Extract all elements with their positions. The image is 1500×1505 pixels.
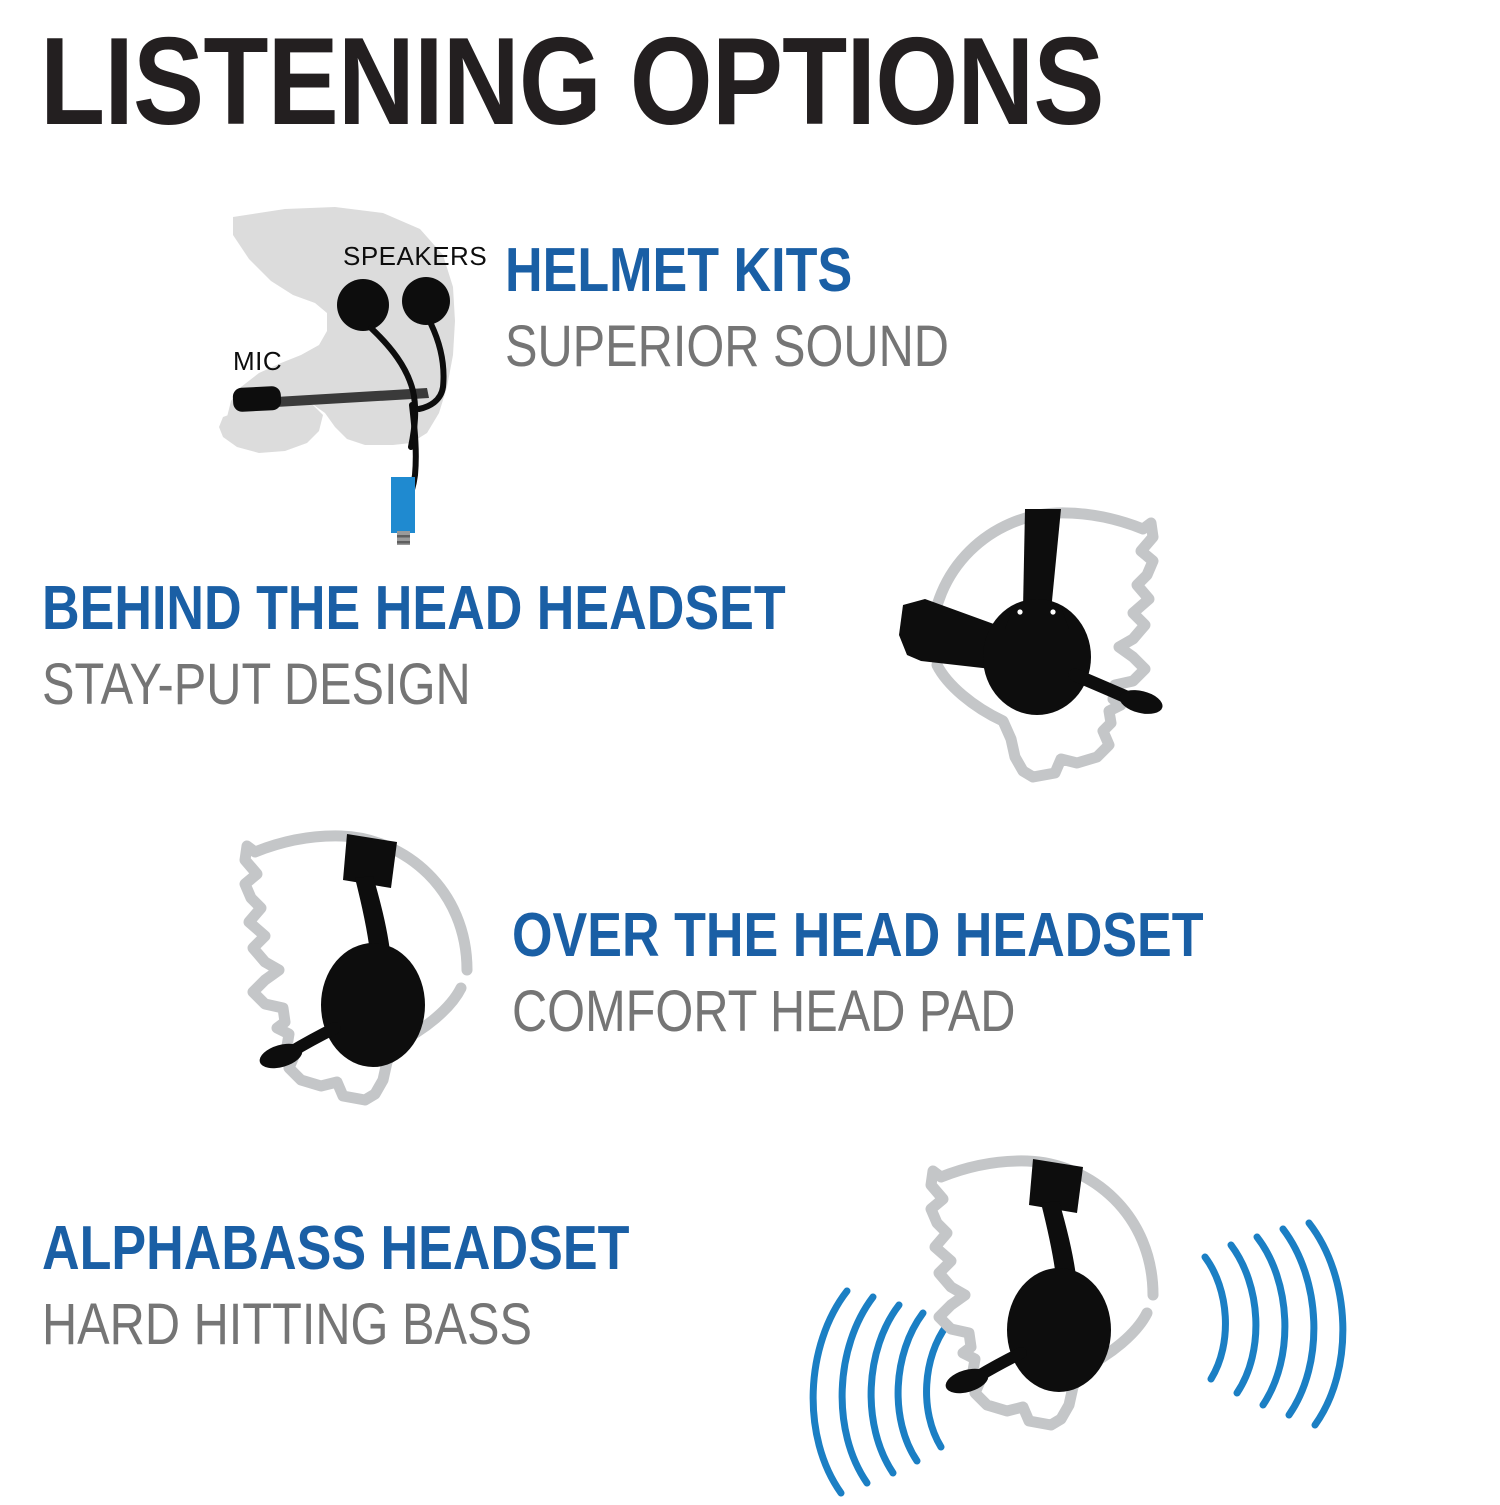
helmet-mic-label: MIC	[233, 346, 282, 376]
soundwave-left-group	[813, 1291, 947, 1493]
helmet-kits-text-block: HELMET KITS SUPERIOR SOUND	[505, 240, 1034, 376]
helmet-plug-ring-1	[397, 535, 410, 538]
over-the-head-title: OVER THE HEAD HEADSET	[512, 905, 1204, 967]
headset-ear-cup	[1007, 1268, 1111, 1392]
soundwave-left-1	[927, 1325, 947, 1447]
alphabass-title: ALPHABASS HEADSET	[42, 1218, 629, 1280]
helmet-plug-ring-2	[397, 541, 410, 544]
page-title: LISTENING OPTIONS	[40, 20, 1104, 144]
headset-ear-cup	[321, 943, 425, 1067]
headset-top-strap	[1023, 509, 1061, 611]
helmet-kit-icon: SPEAKERS MIC	[215, 195, 515, 545]
behind-the-head-headset-icon	[865, 495, 1195, 815]
helmet-speaker-right	[402, 277, 450, 325]
over-the-head-text-block: OVER THE HEAD HEADSET COMFORT HEAD PAD	[512, 905, 1335, 1041]
soundwave-right-2	[1231, 1245, 1256, 1393]
headset-cup-notch-left	[1017, 609, 1022, 614]
soundwave-right-group	[1205, 1223, 1343, 1425]
alphabass-text-block: ALPHABASS HEADSET HARD HITTING BASS	[42, 1218, 741, 1354]
helmet-kits-subtitle: SUPERIOR SOUND	[505, 318, 949, 376]
headset-ear-cup-top	[1005, 607, 1069, 629]
helmet-speakers-label: SPEAKERS	[343, 241, 487, 271]
over-the-head-subtitle: COMFORT HEAD PAD	[512, 983, 1204, 1041]
soundwave-right-1	[1205, 1257, 1225, 1379]
behind-the-head-title: BEHIND THE HEAD HEADSET	[42, 578, 786, 640]
soundwave-right-3	[1257, 1237, 1285, 1405]
alphabass-subtitle: HARD HITTING BASS	[42, 1296, 629, 1354]
behind-the-head-subtitle: STAY-PUT DESIGN	[42, 656, 786, 714]
behind-the-head-text-block: BEHIND THE HEAD HEADSET STAY-PUT DESIGN	[42, 578, 927, 714]
helmet-plug-body	[391, 477, 415, 533]
helmet-mic-capsule	[232, 386, 281, 412]
alphabass-headset-icon	[795, 1125, 1355, 1505]
helmet-kits-title: HELMET KITS	[505, 240, 949, 302]
over-the-head-headset-icon	[205, 820, 535, 1140]
soundwave-left-2	[898, 1313, 923, 1461]
headset-cup-notch-right	[1050, 609, 1055, 614]
helmet-speaker-left	[337, 279, 389, 331]
